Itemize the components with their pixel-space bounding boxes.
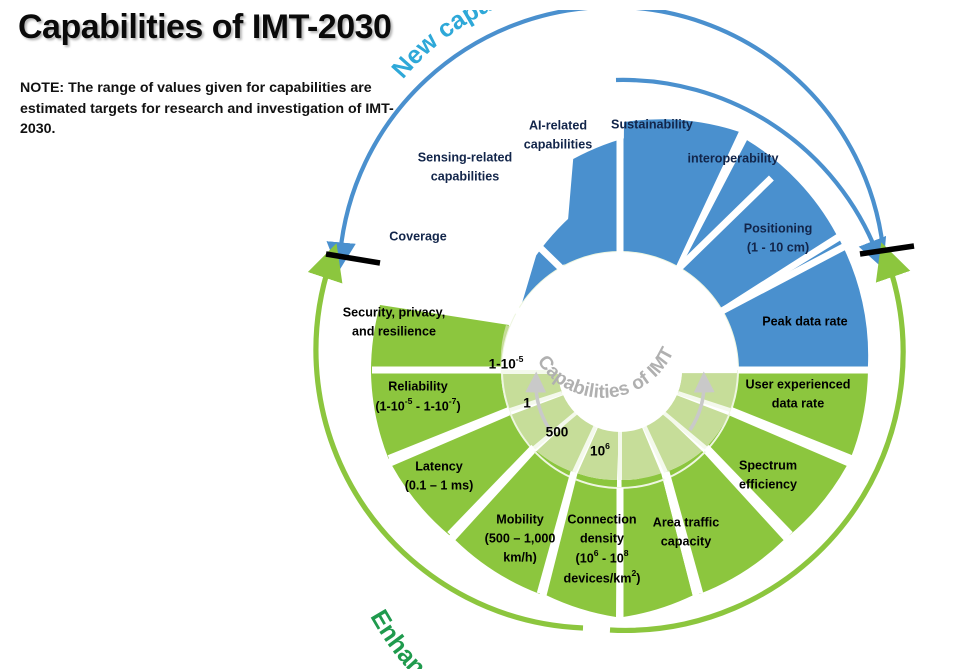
tick-mark-right [860, 246, 914, 254]
label-ai-l2: capabilities [524, 137, 593, 151]
label-spectrum-l1: Spectrum [739, 458, 797, 472]
label-mobility-l3: km/h) [503, 550, 537, 564]
label-reliability-l1: Reliability [388, 379, 448, 393]
label-area-l2: capacity [661, 534, 711, 548]
label-sensing-l1: Sensing-related [418, 150, 512, 164]
label-conn-l4: devices/km2) [564, 568, 641, 585]
label-sustainability: Sustainability [611, 117, 693, 131]
label-conn-l2: density [580, 531, 624, 545]
label-coverage: Coverage [389, 229, 446, 243]
value-mobility-imt2020: 500 [546, 425, 569, 440]
label-conn-l1: Connection [567, 512, 636, 526]
label-conn-l3: (106 - 108 [576, 548, 629, 565]
arc-label-enhanced-capabilities: Enhanced capabilities for IMT-2030 [365, 605, 731, 669]
label-user-l2: data rate [772, 396, 825, 410]
label-positioning-l1: Positioning [744, 221, 813, 235]
label-security-l1: Security, privacy, [343, 305, 445, 319]
label-spectrum-l2: efficiency [739, 477, 797, 491]
label-latency-l2: (0.1 – 1 ms) [405, 478, 474, 492]
label-sensing-l2: capabilities [431, 169, 500, 183]
label-user-l1: User experienced [745, 377, 850, 391]
label-ai-l1: AI-related [529, 118, 587, 132]
tick-mark-left [326, 254, 380, 263]
label-interoperability: interoperability [688, 151, 779, 165]
value-latency-imt2020: 1 [523, 396, 531, 411]
label-area-l1: Area traffic [653, 515, 720, 529]
label-mobility-l2: (500 – 1,000 [485, 531, 556, 545]
label-peak-data-rate: Peak data rate [762, 314, 847, 328]
label-mobility-l1: Mobility [496, 512, 544, 526]
label-latency-l1: Latency [415, 459, 463, 473]
imt-2030-capabilities-wheel: New capabilities of IMT-2030 Enhanced ca… [280, 10, 960, 669]
label-security-l2: and resilience [352, 324, 436, 338]
label-positioning-l2: (1 - 10 cm) [747, 240, 809, 254]
label-reliability-l2: (1-10-5 - 1-10-7) [375, 396, 460, 413]
